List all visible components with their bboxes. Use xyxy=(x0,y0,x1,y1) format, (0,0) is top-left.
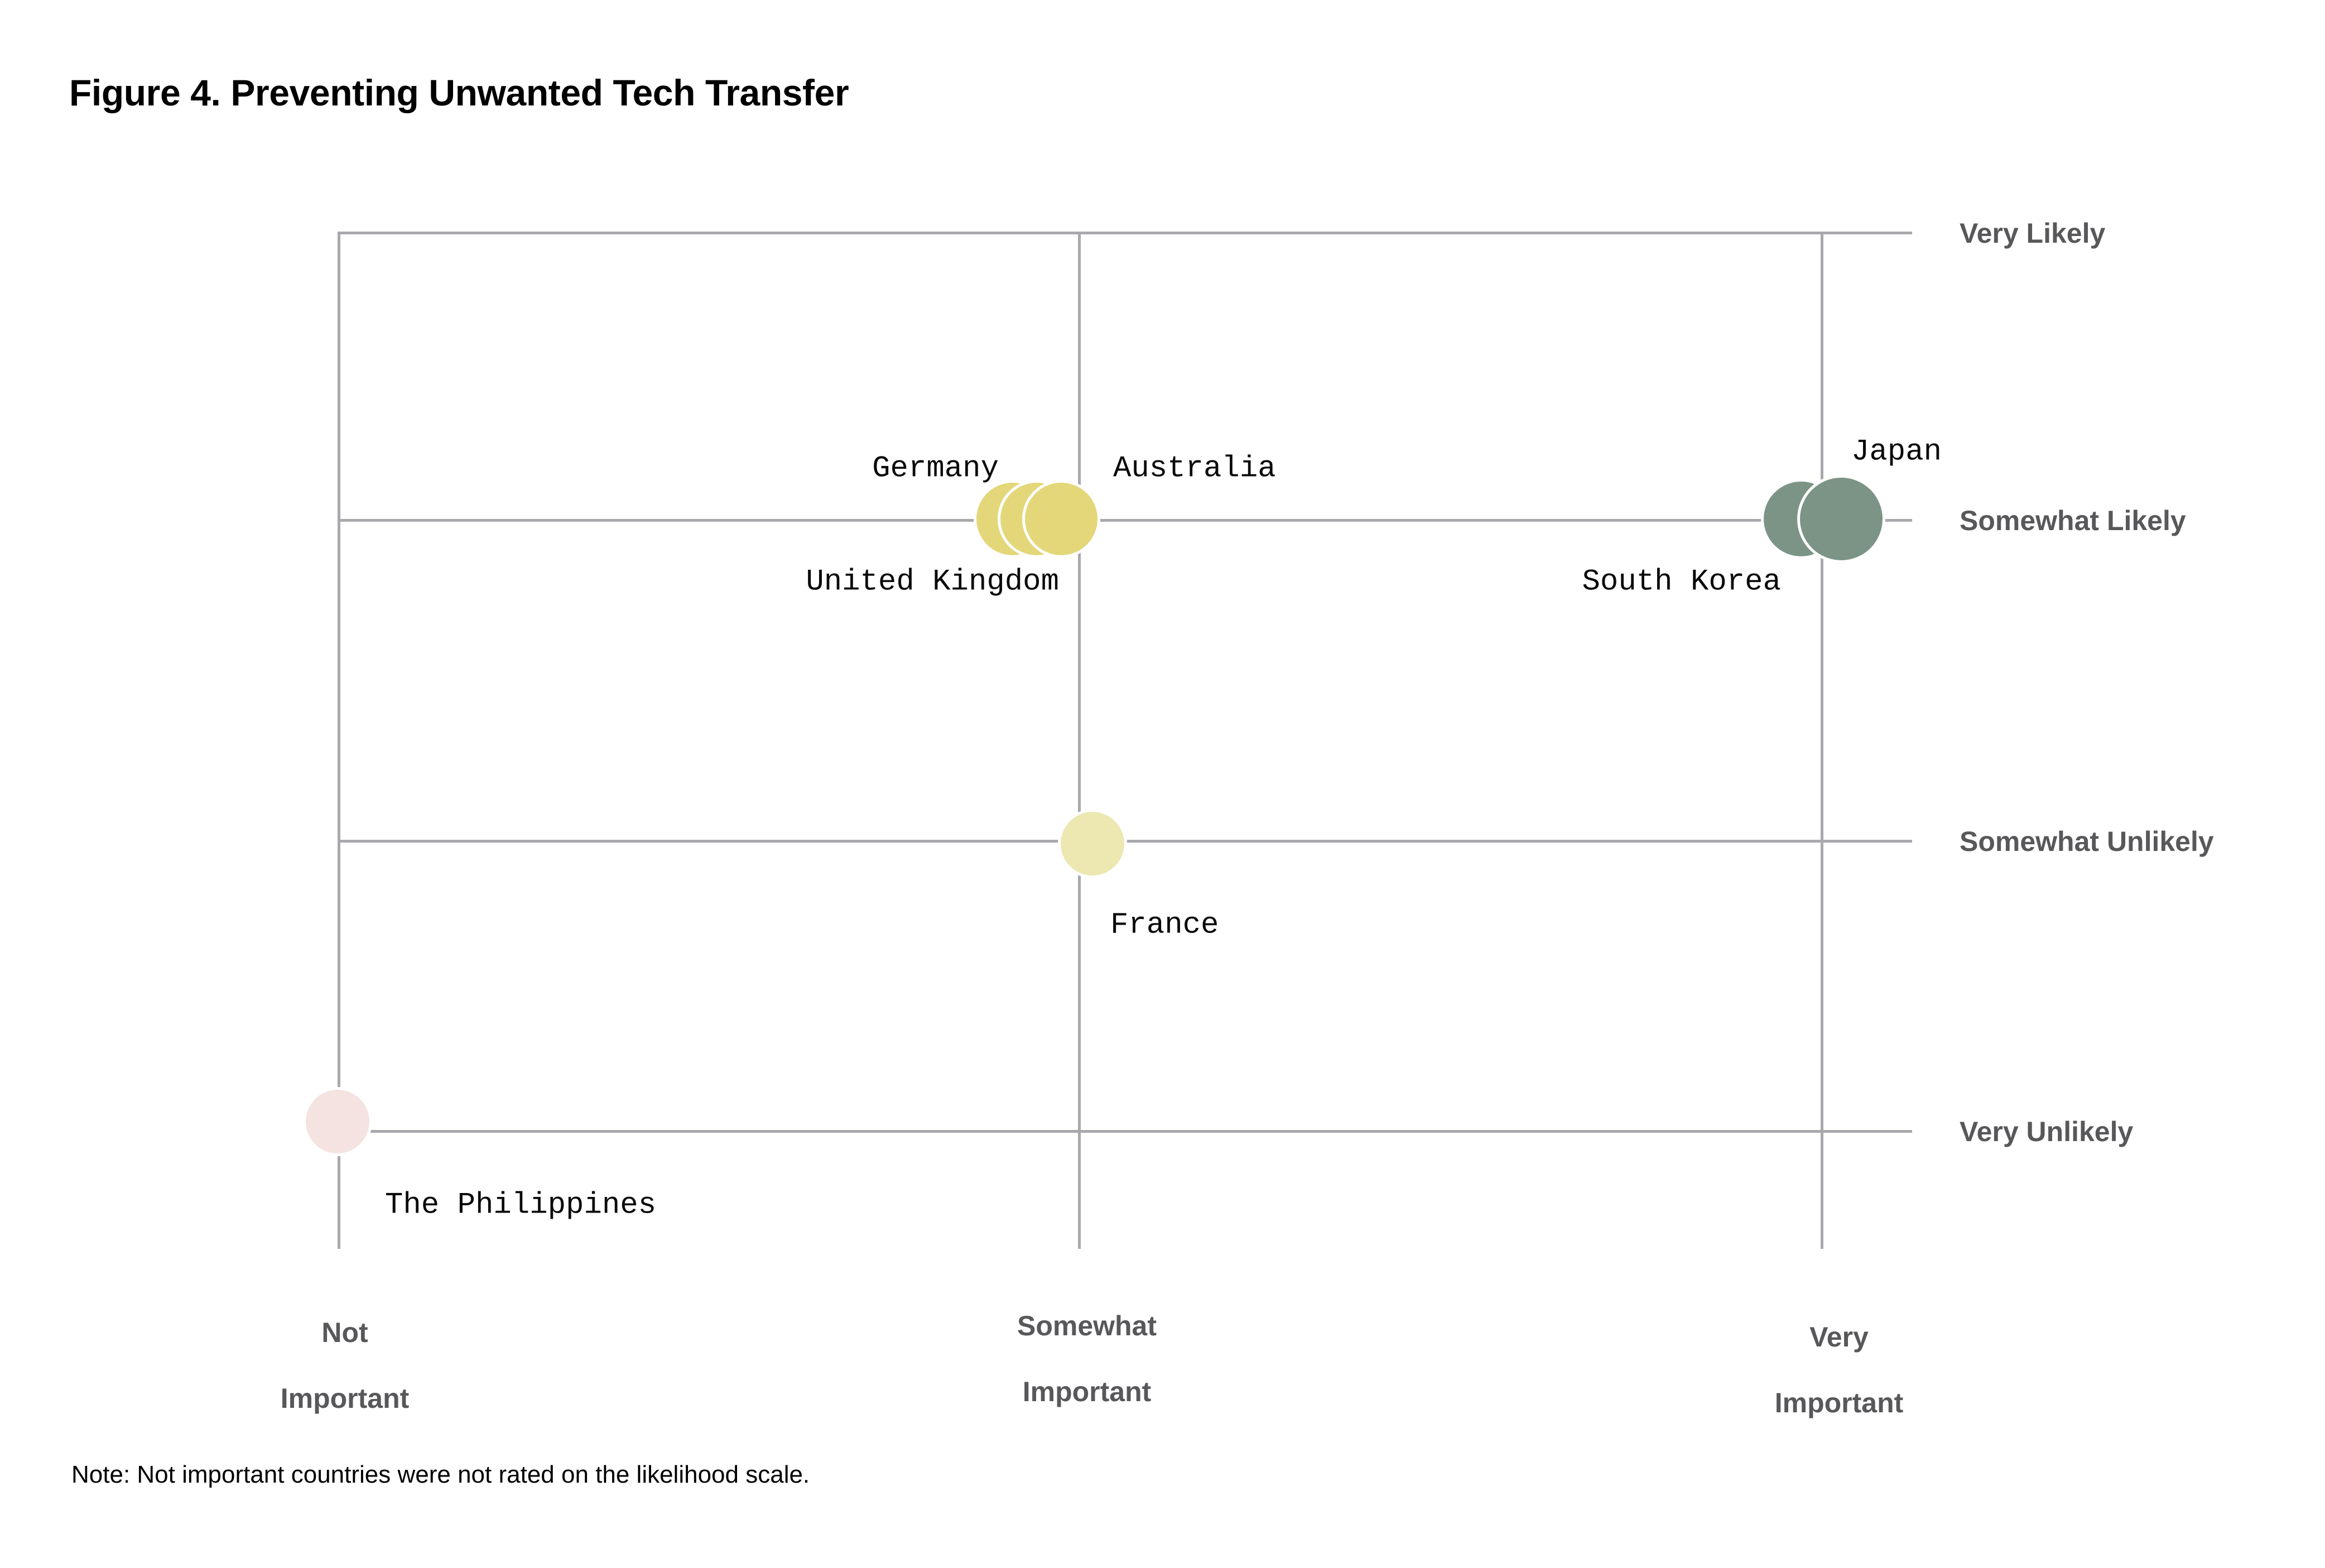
point-label-united-kingdom: United Kingdom xyxy=(806,565,1059,599)
xtick-very-important-line1: Very xyxy=(1775,1321,1904,1354)
bubble-australia[interactable] xyxy=(1022,480,1100,558)
gridline-very-unlikely xyxy=(338,1130,1912,1133)
xtick-very-important: Very Important xyxy=(1775,1288,1904,1452)
bubble-france[interactable] xyxy=(1058,809,1127,878)
xtick-not-important-line2: Important xyxy=(281,1382,410,1415)
point-label-japan: Japan xyxy=(1851,435,1942,469)
figure-title: Figure 4. Preventing Unwanted Tech Trans… xyxy=(69,71,849,114)
ytick-very-unlikely: Very Unlikely xyxy=(1960,1115,2133,1148)
xtick-somewhat-important-line1: Somewhat xyxy=(1017,1310,1157,1343)
figure-note: Note: Not important countries were not r… xyxy=(71,1461,810,1489)
xtick-somewhat-important-line2: Important xyxy=(1017,1375,1157,1408)
figure-container: Figure 4. Preventing Unwanted Tech Trans… xyxy=(0,0,2325,1568)
bubble-japan[interactable] xyxy=(1797,475,1885,563)
xtick-somewhat-important: Somewhat Important xyxy=(1017,1277,1157,1441)
gridline-very-important xyxy=(1821,232,1823,1249)
xtick-very-important-line2: Important xyxy=(1775,1387,1904,1420)
ytick-somewhat-likely: Somewhat Likely xyxy=(1960,504,2186,537)
xtick-not-important: Not Important xyxy=(281,1283,410,1448)
point-label-the-philippines: The Philippines xyxy=(385,1189,656,1223)
xtick-not-important-line1: Not xyxy=(281,1316,410,1349)
bubble-the-philippines[interactable] xyxy=(303,1087,372,1156)
gridline-very-likely xyxy=(338,232,1912,234)
point-label-australia: Australia xyxy=(1113,452,1276,486)
ytick-very-likely: Very Likely xyxy=(1960,217,2105,249)
plot-area xyxy=(338,232,1821,1249)
gridline-somewhat-important xyxy=(1078,232,1081,1249)
gridline-somewhat-likely xyxy=(338,519,1912,522)
point-label-south-korea: South Korea xyxy=(1582,565,1781,599)
ytick-somewhat-unlikely: Somewhat Unlikely xyxy=(1960,825,2214,858)
point-label-france: France xyxy=(1110,908,1219,942)
point-label-germany: Germany xyxy=(872,452,999,486)
